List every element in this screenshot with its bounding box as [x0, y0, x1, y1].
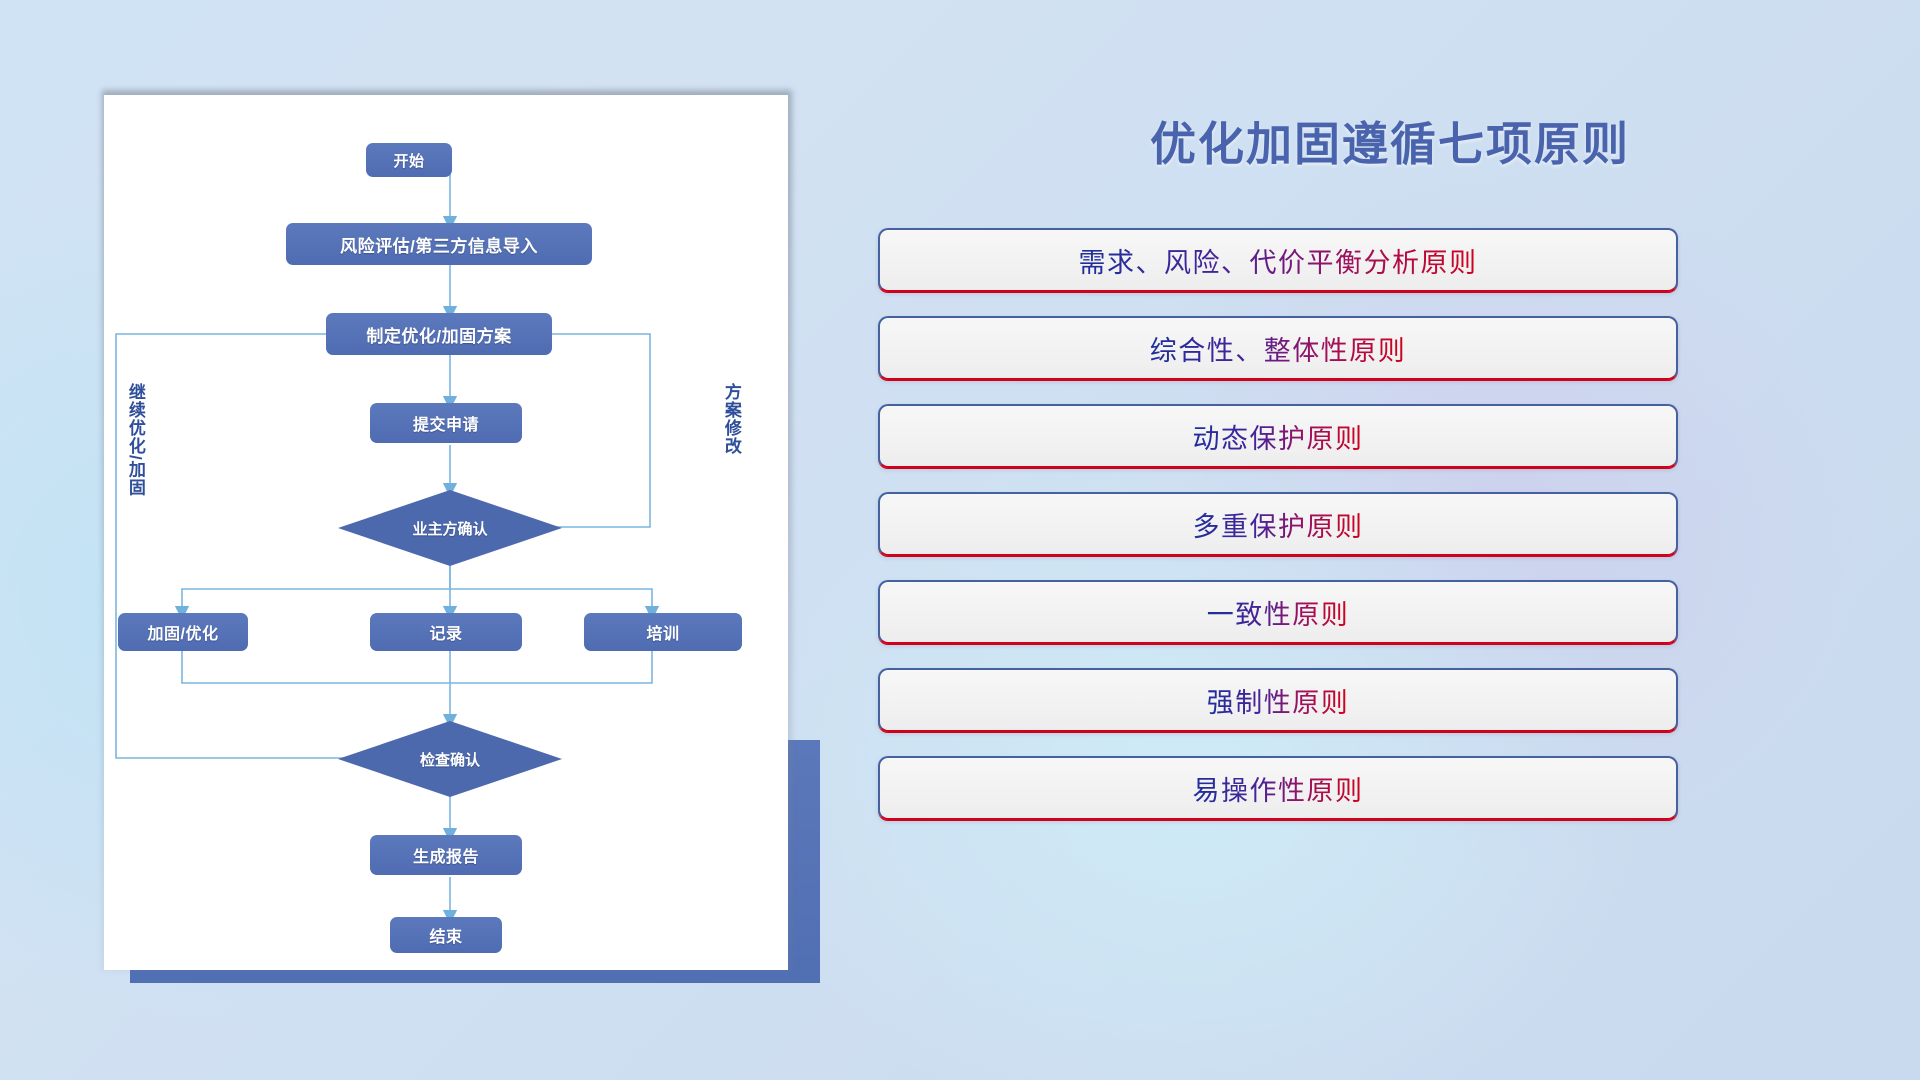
node-reinforce-optimize-label: 加固/优化	[148, 620, 219, 644]
node-generate-report[interactable]: 生成报告	[370, 835, 522, 875]
principle-label: 需求、风险、代价平衡分析原则	[1079, 241, 1478, 280]
principle-label: 一致性原则	[1207, 593, 1350, 632]
principle-item[interactable]: 综合性、整体性原则	[878, 316, 1678, 380]
node-start-label: 开始	[393, 150, 424, 171]
principles-panel: 优化加固遵循七项原则 需求、风险、代价平衡分析原则 综合性、整体性原则 动态保护…	[860, 0, 1920, 1080]
node-owner-confirm[interactable]: 业主方确认	[338, 490, 562, 566]
principle-label: 多重保护原则	[1193, 505, 1364, 544]
principle-item[interactable]: 动态保护原则	[878, 404, 1678, 468]
node-start[interactable]: 开始	[366, 143, 452, 177]
flowchart-canvas: 开始 风险评估/第三方信息导入 制定优化/加固方案 提交申请 业主方确认 加固/…	[104, 95, 788, 970]
edge-label-continue-optimize: 继续优化/加固	[126, 383, 144, 497]
node-training-label: 培训	[646, 620, 679, 644]
node-risk-assessment[interactable]: 风险评估/第三方信息导入	[286, 223, 592, 265]
flowchart-panel: 开始 风险评估/第三方信息导入 制定优化/加固方案 提交申请 业主方确认 加固/…	[0, 0, 860, 1080]
flowchart-card: 开始 风险评估/第三方信息导入 制定优化/加固方案 提交申请 业主方确认 加固/…	[104, 95, 788, 970]
principle-item[interactable]: 需求、风险、代价平衡分析原则	[878, 228, 1678, 292]
principle-label: 易操作性原则	[1193, 769, 1364, 808]
node-record-label: 记录	[429, 620, 462, 644]
node-training[interactable]: 培训	[584, 613, 742, 651]
principle-item[interactable]: 一致性原则	[878, 580, 1678, 644]
principles-title: 优化加固遵循七项原则	[860, 108, 1920, 174]
principle-label: 动态保护原则	[1193, 417, 1364, 456]
principles-list: 需求、风险、代价平衡分析原则 综合性、整体性原则 动态保护原则 多重保护原则 一…	[878, 228, 1678, 844]
node-submit-application[interactable]: 提交申请	[370, 403, 522, 443]
principle-label: 强制性原则	[1207, 681, 1350, 720]
node-reinforce-optimize[interactable]: 加固/优化	[118, 613, 248, 651]
principle-item[interactable]: 易操作性原则	[878, 756, 1678, 820]
node-owner-confirm-label: 业主方确认	[338, 490, 562, 566]
node-check-confirm[interactable]: 检查确认	[338, 721, 562, 797]
principle-item[interactable]: 强制性原则	[878, 668, 1678, 732]
node-end[interactable]: 结束	[390, 917, 502, 953]
node-make-plan[interactable]: 制定优化/加固方案	[326, 313, 552, 355]
node-make-plan-label: 制定优化/加固方案	[366, 322, 511, 347]
node-generate-report-label: 生成报告	[413, 843, 479, 867]
node-end-label: 结束	[429, 923, 462, 947]
edge-label-plan-revision: 方案修改	[722, 383, 740, 455]
node-record[interactable]: 记录	[370, 613, 522, 651]
principle-label: 综合性、整体性原则	[1150, 329, 1407, 368]
node-check-confirm-label: 检查确认	[338, 721, 562, 797]
node-risk-assessment-label: 风险评估/第三方信息导入	[340, 232, 538, 257]
principle-item[interactable]: 多重保护原则	[878, 492, 1678, 556]
node-submit-application-label: 提交申请	[413, 411, 479, 435]
